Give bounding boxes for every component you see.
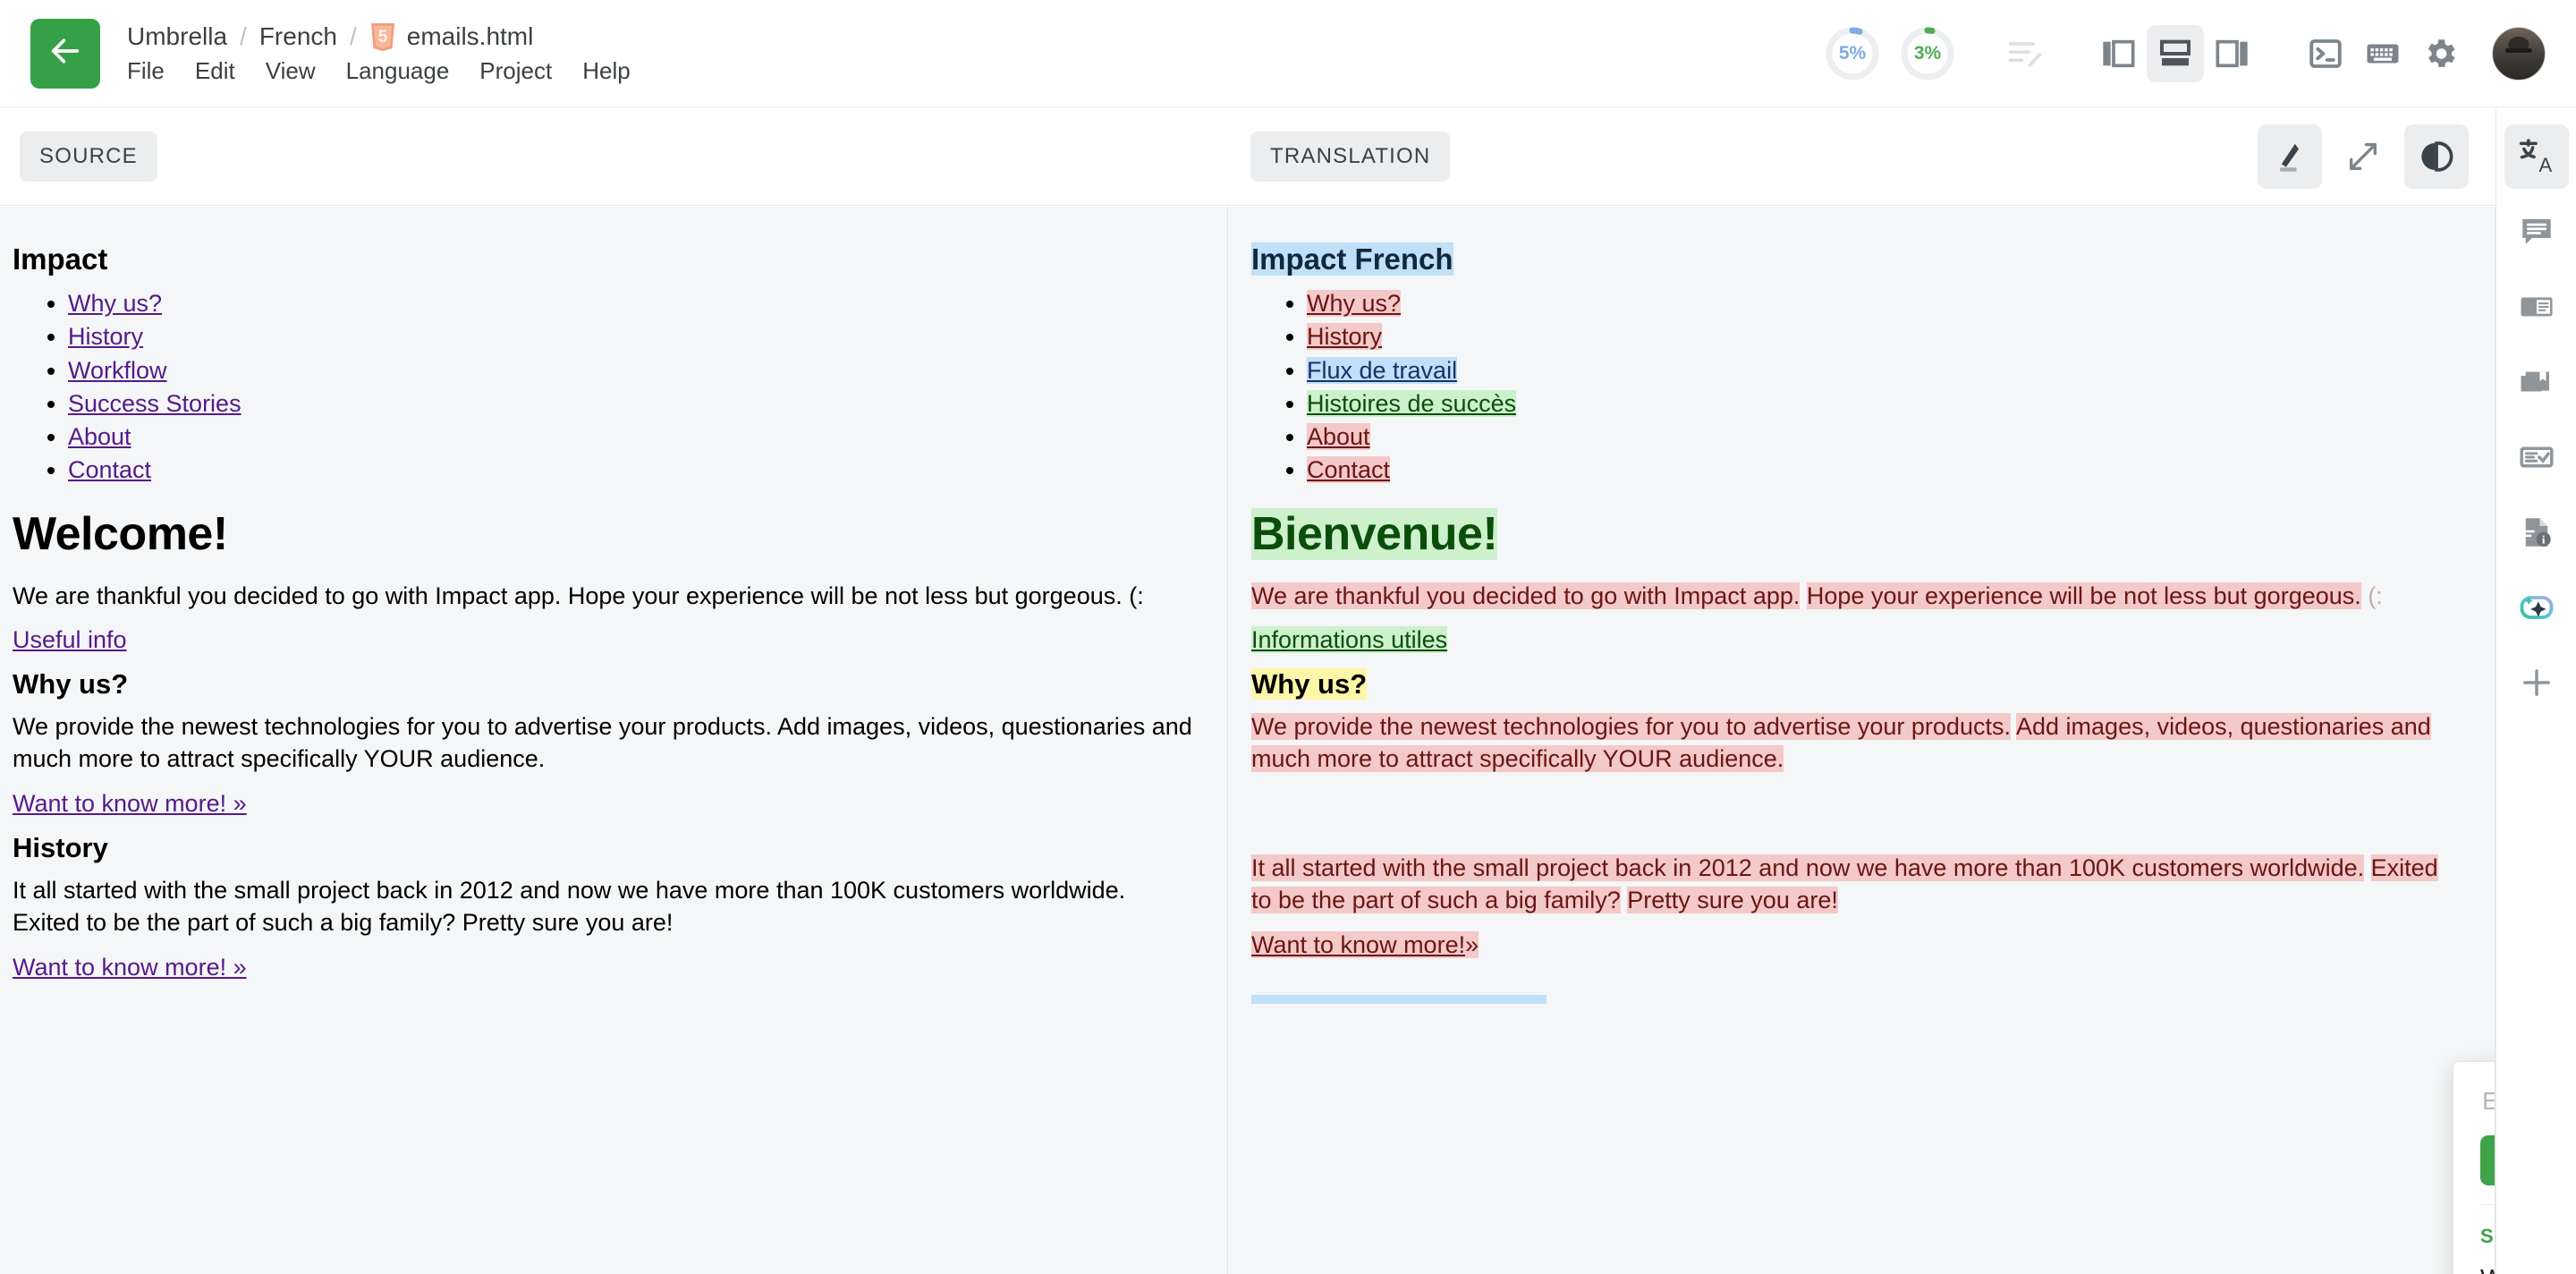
list-item: About <box>68 420 1197 454</box>
menu-help[interactable]: Help <box>582 57 630 85</box>
segment[interactable]: Informations utiles <box>1251 626 1447 653</box>
list-item: Workflow <box>68 354 1197 387</box>
segment[interactable]: Contact <box>1307 456 1390 483</box>
source-whyus-body: We provide the newest technologies for y… <box>13 711 1197 776</box>
segment[interactable]: We provide the newest technologies for y… <box>1251 713 2011 740</box>
popup-source-text: Why us? <box>2480 1264 2495 1274</box>
source-want-more-wrap-2: Want to know more! » <box>13 954 1197 981</box>
back-button[interactable] <box>30 19 100 89</box>
segment[interactable]: It all started with the small project ba… <box>1251 854 2364 881</box>
approved-progress-value: 3% <box>1914 43 1941 64</box>
list-item: Success Stories <box>68 387 1197 420</box>
segment[interactable]: (: <box>2368 582 2383 609</box>
menu-language[interactable]: Language <box>346 57 450 85</box>
breadcrumb: Umbrella / French / 5 emails.html <box>127 21 631 52</box>
segment[interactable]: Histoires de succès <box>1307 390 1516 417</box>
segment[interactable]: Flux de travail <box>1307 357 1457 384</box>
svg-text:i: i <box>2541 532 2545 546</box>
segment[interactable]: Bienvenue! <box>1251 508 1497 560</box>
source-want-more-wrap-1: Want to know more! » <box>13 790 1197 818</box>
html5-file-icon: 5 <box>369 21 396 52</box>
menu-project[interactable]: Project <box>479 57 552 85</box>
app-header: Umbrella / French / 5 emails.html File E… <box>0 0 2576 107</box>
translation-nav-link[interactable]: About <box>1307 423 1370 450</box>
segment[interactable]: We are thankful you decided to go with I… <box>1251 582 1800 609</box>
source-heading-history: History <box>13 832 1197 864</box>
source-nav-list: Why us? History Workflow Success Stories… <box>68 287 1197 488</box>
translation-next-segment-placeholder[interactable] <box>1251 995 1546 1004</box>
glossary-icon[interactable] <box>2504 275 2569 339</box>
right-sidebar: A <box>2495 108 2576 1274</box>
translation-editor-popup: 7 0 SOURCE STRING Why us? <box>2453 1061 2495 1274</box>
popup-action-bar: 7 0 <box>2453 1116 2495 1204</box>
source-welcome-body: We are thankful you decided to go with I… <box>13 581 1197 613</box>
segment[interactable]: About <box>1307 423 1370 450</box>
popup-input-row <box>2453 1062 2495 1116</box>
editor-tools <box>2258 124 2469 189</box>
source-string-label: SOURCE STRING <box>2480 1225 2495 1248</box>
segment[interactable]: Hope your experience will be not less bu… <box>1807 582 2361 609</box>
source-nav-link[interactable]: Workflow <box>68 357 167 384</box>
segment-current[interactable]: Why us? <box>1251 668 1367 700</box>
breadcrumb-language[interactable]: French <box>259 22 337 51</box>
list-item: Contact <box>68 454 1197 487</box>
segment[interactable]: Pretty sure you are! <box>1627 887 1838 913</box>
save-button[interactable] <box>2480 1135 2495 1185</box>
source-nav-link[interactable]: Contact <box>68 456 151 483</box>
source-useful-info-link[interactable]: Useful info <box>13 626 127 653</box>
layout-left-panel-icon[interactable] <box>2089 25 2147 82</box>
breadcrumb-project[interactable]: Umbrella <box>127 22 227 51</box>
translation-nav-list: Why us? History Flux de travail Histoire… <box>1307 287 2464 488</box>
translation-want-more-link[interactable]: Want to know more! <box>1251 931 1465 958</box>
list-item: History <box>68 320 1197 353</box>
popup-source-section: SOURCE STRING Why us? <box>2453 1205 2495 1274</box>
translation-welcome-body: We are thankful you decided to go with I… <box>1251 581 2464 613</box>
segment[interactable]: History <box>1307 323 1382 350</box>
panel-tabs-bar: SOURCE TRANSLATION <box>0 107 2576 206</box>
terminal-icon[interactable] <box>2297 25 2354 82</box>
user-avatar[interactable] <box>2492 27 2546 81</box>
source-nav-link[interactable]: Success Stories <box>68 390 241 417</box>
translation-nav-link[interactable]: Why us? <box>1307 290 1401 317</box>
source-string-toggle[interactable]: SOURCE STRING <box>2480 1225 2495 1248</box>
source-panel: Impact Why us? History Workflow Success … <box>0 207 1228 1274</box>
translation-panel: Impact French Why us? History Flux de tr… <box>1228 207 2495 1274</box>
file-info-icon[interactable]: i <box>2504 500 2569 565</box>
breadcrumb-separator-2: / <box>350 22 357 51</box>
expand-arrows-icon[interactable] <box>2331 124 2395 189</box>
add-plus-icon[interactable] <box>2504 650 2569 715</box>
translation-history-body: It all started with the small project ba… <box>1251 853 2464 917</box>
translation-heading-whyus: Why us? <box>1251 668 2464 701</box>
list-item: Contact <box>1307 454 2464 487</box>
tab-translation[interactable]: TRANSLATION <box>1250 132 1450 182</box>
translation-whyus-body: We provide the newest technologies for y… <box>1251 711 2464 776</box>
translation-input[interactable] <box>2482 1087 2495 1116</box>
svg-text:5: 5 <box>377 28 387 47</box>
ai-sparkle-icon[interactable] <box>2504 575 2569 640</box>
list-item: Why us? <box>1307 287 2464 320</box>
menu-file[interactable]: File <box>127 57 165 85</box>
translation-nav-link[interactable]: History <box>1307 323 1382 350</box>
comment-icon[interactable] <box>2504 200 2569 264</box>
list-item: History <box>1307 320 2464 353</box>
breadcrumb-file[interactable]: emails.html <box>407 22 534 51</box>
editor-main: Impact Why us? History Workflow Success … <box>0 207 2576 1274</box>
source-heading-whyus: Why us? <box>13 668 1197 701</box>
translation-memory-icon[interactable] <box>2504 350 2569 414</box>
source-document: Impact Why us? History Workflow Success … <box>13 242 1197 981</box>
qa-checklist-icon[interactable] <box>2504 425 2569 489</box>
translation-want-more-wrap: Want to know more!» <box>1251 931 2464 959</box>
translation-nav-link[interactable]: Flux de travail <box>1307 357 1457 384</box>
menu-bar: File Edit View Language Project Help <box>127 57 631 85</box>
segment[interactable]: Why us? <box>1307 290 1401 317</box>
source-history-body: It all started with the small project ba… <box>13 875 1197 939</box>
source-nav-link[interactable]: About <box>68 423 131 450</box>
translation-document: Impact French Why us? History Flux de tr… <box>1251 242 2464 1004</box>
menu-edit[interactable]: Edit <box>195 57 235 85</box>
layout-horizontal-split-icon[interactable] <box>2147 25 2204 82</box>
header-toolbar: 5% 3% <box>1825 25 2546 82</box>
header-titles: Umbrella / French / 5 emails.html File E… <box>127 21 631 85</box>
approved-progress[interactable]: 3% <box>1900 26 1955 81</box>
edit-notes-icon[interactable] <box>1996 25 2054 82</box>
source-useful-info-wrap: Useful info <box>13 626 1197 654</box>
translation-useful-info-wrap: Informations utiles <box>1251 626 2464 654</box>
menu-view[interactable]: View <box>266 57 316 85</box>
arrow-left-icon <box>47 33 83 73</box>
tab-source[interactable]: SOURCE <box>20 132 157 182</box>
translate-icon[interactable]: A <box>2504 124 2569 189</box>
pen-edit-icon[interactable] <box>2258 124 2322 189</box>
split-compare-icon[interactable] <box>2404 124 2469 189</box>
keyboard-icon[interactable] <box>2354 25 2411 82</box>
list-item: Flux de travail <box>1307 354 2464 387</box>
gear-icon[interactable] <box>2411 25 2469 82</box>
translated-progress[interactable]: 5% <box>1825 26 1880 81</box>
list-item: About <box>1307 420 2464 454</box>
translation-nav-link[interactable]: Histoires de succès <box>1307 390 1516 417</box>
segment[interactable]: Impact French <box>1251 242 1453 276</box>
source-want-more-link-1[interactable]: Want to know more! » <box>13 790 247 817</box>
translated-progress-value: 5% <box>1839 43 1866 64</box>
segment-suffix[interactable]: » <box>1465 931 1479 958</box>
translation-nav-link[interactable]: Contact <box>1307 456 1390 483</box>
translation-heading-welcome: Bienvenue! <box>1251 507 2464 561</box>
list-item: Histoires de succès <box>1307 387 2464 420</box>
translation-heading-impact: Impact French <box>1251 242 2464 276</box>
translation-useful-info-link[interactable]: Informations utiles <box>1251 626 1447 653</box>
svg-text:A: A <box>2538 154 2552 176</box>
layout-right-panel-icon[interactable] <box>2204 25 2261 82</box>
source-nav-link[interactable]: Why us? <box>68 290 162 317</box>
list-item: Why us? <box>68 287 1197 320</box>
source-want-more-link-2[interactable]: Want to know more! » <box>13 954 247 981</box>
source-nav-link[interactable]: History <box>68 323 143 350</box>
source-heading-welcome: Welcome! <box>13 507 1197 561</box>
segment[interactable]: Want to know more! <box>1251 931 1465 958</box>
breadcrumb-separator-1: / <box>240 22 247 51</box>
source-heading-impact: Impact <box>13 242 1197 276</box>
